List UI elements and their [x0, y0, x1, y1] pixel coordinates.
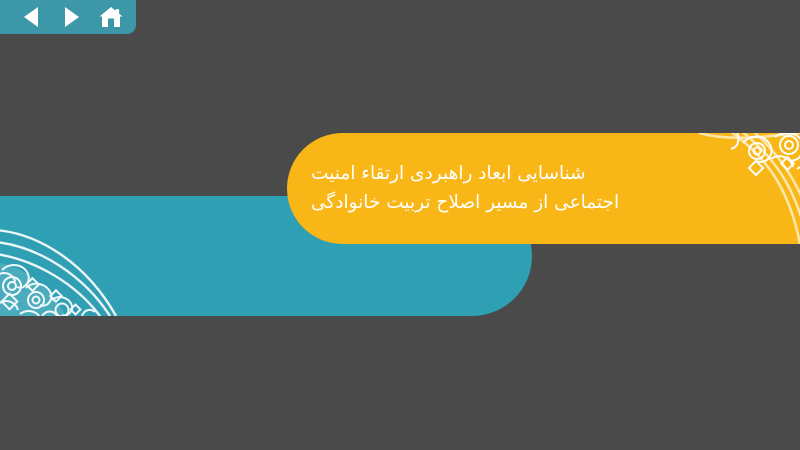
navigation-bar: [0, 0, 136, 34]
previous-slide-button[interactable]: [19, 5, 43, 29]
next-slide-button[interactable]: [59, 5, 83, 29]
arabesque-corner-ornament: [697, 133, 800, 244]
title-line-2: اجتماعی از مسیر اصلاح تربیت خانوادگی: [311, 190, 619, 217]
arabesque-corner-ornament: [0, 200, 156, 316]
previous-triangle-icon: [21, 6, 41, 28]
orange-title-panel: شناسایی ابعاد راهبردی ارتقاء امنیت اجتما…: [287, 133, 800, 244]
home-button[interactable]: [99, 5, 123, 29]
slide-stage: شناسایی ابعاد راهبردی ارتقاء امنیت اجتما…: [0, 0, 800, 450]
slide-title: شناسایی ابعاد راهبردی ارتقاء امنیت اجتما…: [311, 133, 695, 244]
title-line-1: شناسایی ابعاد راهبردی ارتقاء امنیت: [311, 161, 586, 188]
next-triangle-icon: [61, 6, 81, 28]
home-icon: [99, 6, 123, 29]
